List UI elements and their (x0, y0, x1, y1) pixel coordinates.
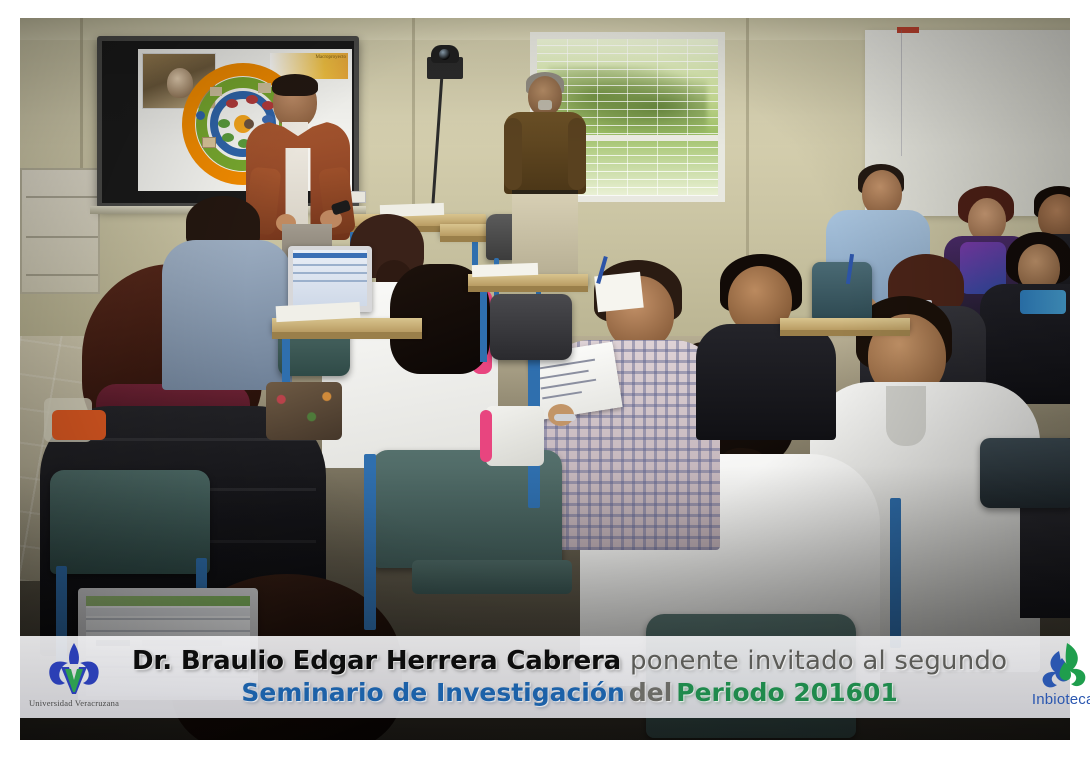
chair-back (490, 294, 572, 360)
speaker-subtitle: ponente invitado al segundo (630, 646, 1007, 676)
inbioteca-logo-caption: Inbioteca (1011, 691, 1090, 708)
banner-line-1: Dr. Braulio Edgar Herrera Cabreraponente… (132, 646, 1007, 677)
table-leg (480, 292, 487, 362)
table (780, 318, 910, 330)
slide-node (218, 119, 230, 128)
notebook (472, 263, 538, 277)
uv-logo-caption: Universidad Veracruzana (20, 698, 128, 708)
shirt (162, 240, 292, 390)
banner-text-block: Dr. Braulio Edgar Herrera Cabreraponente… (128, 646, 1011, 708)
fleur-de-lis-v-icon (20, 640, 128, 704)
slide-thumb (258, 83, 271, 93)
bag-strap (480, 410, 492, 462)
camera-lens (439, 49, 450, 60)
speaker-name: Dr. Braulio Edgar Herrera Cabrera (132, 646, 621, 676)
photo-frame: Macroproyecto (0, 0, 1090, 760)
standing-man-arm-left (504, 118, 522, 190)
orange-pouch (52, 410, 106, 440)
chair-back (812, 262, 872, 324)
inbioteca-flame-icon (1011, 638, 1090, 694)
inbioteca-logo: Inbioteca (1011, 636, 1090, 718)
table-edge (780, 330, 910, 336)
lanyard (1020, 290, 1066, 314)
slide-thumb (202, 137, 216, 148)
collar (886, 386, 926, 446)
torso (696, 324, 836, 440)
slide-node (244, 119, 254, 129)
standing-man-head (528, 76, 562, 116)
slide-node (226, 99, 238, 108)
caption-banner: Universidad Veracruzana Dr. Braulio Edga… (20, 636, 1070, 718)
event-photograph: Macroproyecto (20, 18, 1070, 740)
chair-frame (364, 454, 376, 630)
slide-node (196, 111, 205, 120)
side-whiteboard (20, 168, 100, 294)
chair-frame (890, 498, 901, 648)
banner-line-2: Seminario de InvestigacióndelPeriodo 201… (132, 678, 1007, 708)
chair-back (50, 470, 210, 574)
seminar-connector: del (629, 678, 672, 707)
chair-back (980, 438, 1070, 508)
slide-node (222, 133, 234, 142)
standing-man-beard (538, 100, 552, 110)
paper-crease (901, 30, 902, 156)
universidad-veracruzana-logo: Universidad Veracruzana (20, 636, 128, 718)
slide-node (246, 95, 258, 104)
patterned-bag (266, 382, 342, 440)
wristwatch (554, 414, 576, 421)
white-bag (486, 406, 544, 466)
chair-seat (412, 560, 572, 594)
presenter-hair (272, 74, 318, 96)
slide-thumb (210, 87, 222, 96)
table-edge (272, 332, 422, 339)
seminar-period: Periodo 201601 (676, 678, 898, 707)
standing-man-arm-right (568, 118, 586, 190)
seminar-title: Seminario de Investigación (241, 678, 624, 707)
